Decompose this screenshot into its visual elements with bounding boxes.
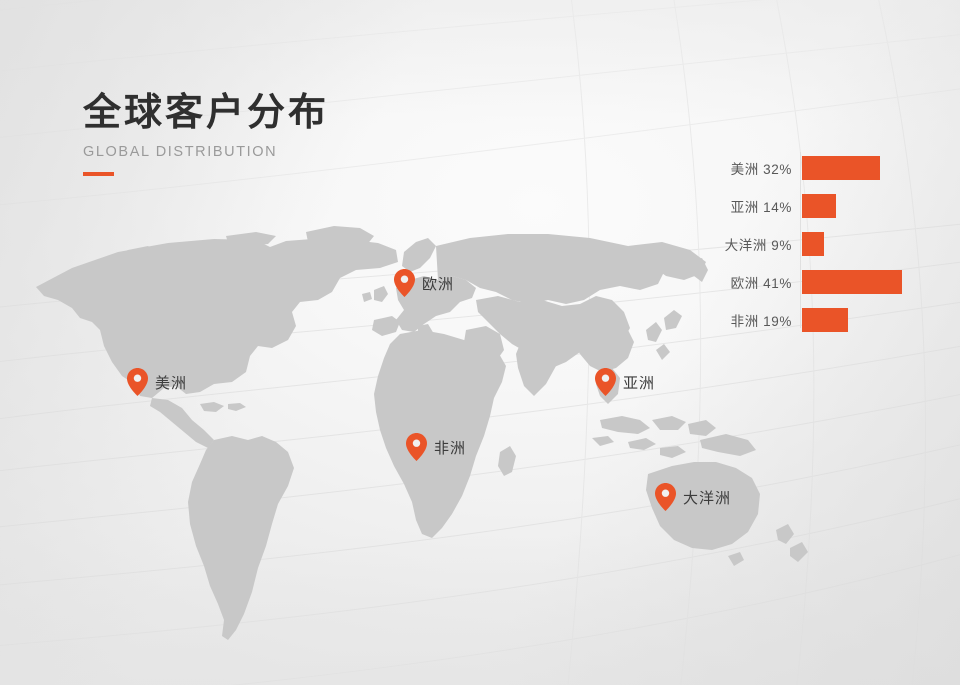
chart-bar: [802, 156, 880, 180]
map-pin-label: 美洲: [155, 372, 187, 393]
chart-row: 亚洲 14%: [660, 194, 940, 218]
map-pin-label: 亚洲: [623, 372, 655, 393]
chart-bar: [802, 308, 848, 332]
chart-bar-label: 大洋洲 9%: [660, 234, 800, 254]
map-pin-icon: [655, 483, 676, 511]
chart-bar-label: 亚洲 14%: [660, 196, 800, 216]
chart-bar-label: 非洲 19%: [660, 310, 800, 330]
chart-bar: [802, 270, 902, 294]
map-pin-europe[interactable]: 欧洲: [394, 269, 454, 297]
map-pin-label: 非洲: [434, 437, 466, 458]
map-pin-icon: [394, 269, 415, 297]
page-title: 全球客户分布: [83, 92, 503, 135]
map-pin-oceania[interactable]: 大洋洲: [655, 483, 731, 511]
chart-bar: [802, 194, 836, 218]
map-pin-icon: [127, 368, 148, 396]
title-block: 全球客户分布 GLOBAL DISTRIBUTION: [83, 92, 503, 176]
map-pin-americas[interactable]: 美洲: [127, 368, 187, 396]
title-accent-rule: [83, 172, 114, 176]
map-pin-label: 欧洲: [422, 273, 454, 294]
map-pin-africa[interactable]: 非洲: [406, 433, 466, 461]
chart-row: 欧洲 41%: [660, 270, 940, 294]
chart-bar-label: 美洲 32%: [660, 158, 800, 178]
chart-bar-label: 欧洲 41%: [660, 272, 800, 292]
map-pin-icon: [595, 368, 616, 396]
distribution-bar-chart: 美洲 32%亚洲 14%大洋洲 9%欧洲 41%非洲 19%: [660, 150, 940, 330]
map-pin-asia[interactable]: 亚洲: [595, 368, 655, 396]
page-subtitle: GLOBAL DISTRIBUTION: [83, 144, 503, 160]
map-pin-icon: [406, 433, 427, 461]
map-pin-label: 大洋洲: [683, 487, 731, 508]
chart-row: 美洲 32%: [660, 156, 940, 180]
infographic-slide: 全球客户分布 GLOBAL DISTRIBUTION 美洲欧洲亚洲非洲大洋洲 美…: [0, 0, 960, 685]
chart-row: 非洲 19%: [660, 308, 940, 332]
chart-bar: [802, 232, 824, 256]
chart-row: 大洋洲 9%: [660, 232, 940, 256]
